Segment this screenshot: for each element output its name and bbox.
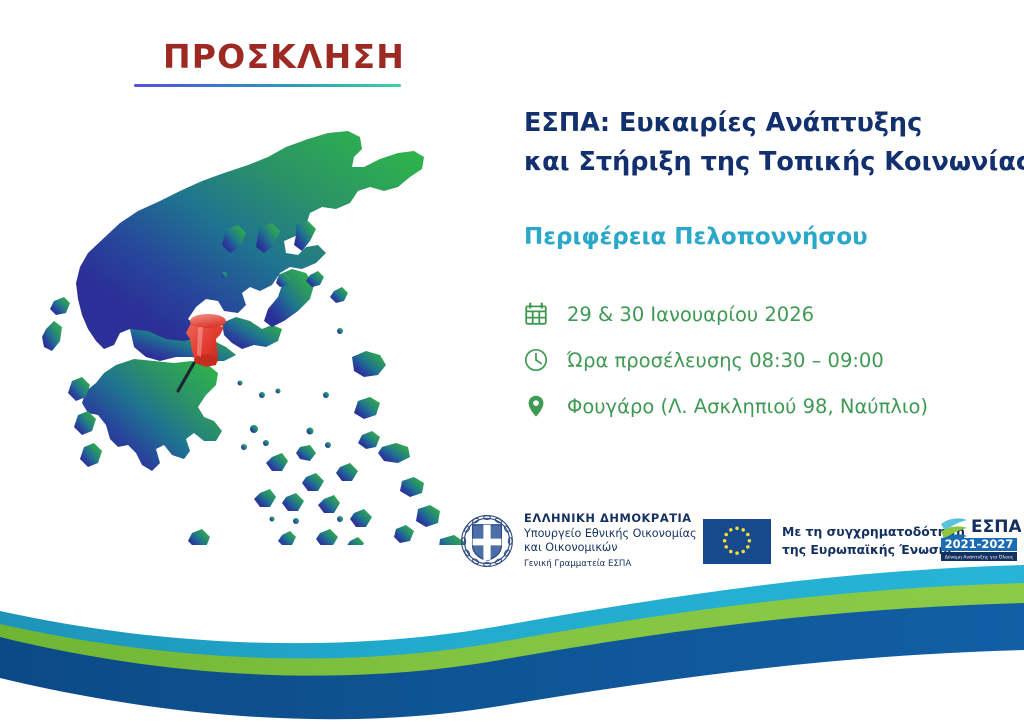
gov-line-1: ΕΛΛΗΝΙΚΗ ΔΗΜΟΚΡΑΤΙΑ [524,511,697,526]
location-pin-icon [524,393,554,419]
european-union-text: Με τη συγχρηματοδότηση της Ευρωπαϊκής Έν… [771,523,965,558]
detail-venue-text: Φουγάρο (Λ. Ασκληπιού 98, Ναύπλιο) [554,395,928,418]
detail-row-time: Ώρα προσέλευσης 08:30 – 09:00 [524,337,994,383]
european-union-flag-icon [703,519,771,564]
eu-line-2: της Ευρωπαϊκής Ένωσης [782,541,965,559]
event-details-list: 29 & 30 Ιανουαρίου 2026 Ώρα προσέλευσης … [524,291,994,429]
greece-landmass [42,131,466,545]
european-union-logo: Με τη συγχρηματοδότηση της Ευρωπαϊκής Έν… [703,519,935,564]
page-title: ΠΡΟΣΚΛΗΣΗ [134,40,434,75]
greek-coat-of-arms-icon [459,513,515,569]
espa-tagline: Δύναμη Ανάπτυξης για Όλους [945,554,1014,561]
detail-time-text: Ώρα προσέλευσης 08:30 – 09:00 [554,349,884,372]
clock-icon [524,347,554,373]
headline-block: ΕΣΠΑ: Ευκαιρίες Ανάπτυξης και Στήριξη τη… [524,104,1004,182]
footer-wave-decoration [0,564,1024,724]
gov-line-2: Υπουργείο Εθνικής Οικονομίας [524,527,697,542]
detail-row-venue: Φουγάρο (Λ. Ασκληπιού 98, Ναύπλιο) [524,383,994,429]
map-of-greece [10,95,480,545]
greek-government-text: ΕΛΛΗΝΙΚΗ ΔΗΜΟΚΡΑΤΙΑ Υπουργείο Εθνικής Οι… [515,511,697,570]
gov-line-3: και Οικονομικών [524,541,697,556]
eu-line-1: Με τη συγχρηματοδότηση [782,523,965,541]
invitation-title-block: ΠΡΟΣΚΛΗΣΗ [134,40,434,87]
espa-logo-icon: ΕΣΠΑ 2021-2027 Δύναμη Ανάπτυξης για Όλου… [939,512,1021,570]
title-underline-divider [134,84,401,87]
espa-period: 2021-2027 [945,537,1014,551]
detail-date-text: 29 & 30 Ιανουαρίου 2026 [554,303,814,326]
headline-line-1: ΕΣΠΑ: Ευκαιρίες Ανάπτυξης [524,104,1004,143]
calendar-icon [524,301,554,327]
headline-line-2: και Στήριξη της Τοπικής Κοινωνίας [524,143,1004,182]
region-subtitle: Περιφέρεια Πελοποννήσου [524,224,868,250]
espa-wordmark: ΕΣΠΑ [971,517,1021,537]
greek-government-logo: ΕΛΛΗΝΙΚΗ ΔΗΜΟΚΡΑΤΙΑ Υπουργείο Εθνικής Οι… [459,511,695,570]
invitation-poster: ΠΡΟΣΚΛΗΣΗ [0,0,1024,724]
detail-row-date: 29 & 30 Ιανουαρίου 2026 [524,291,994,337]
